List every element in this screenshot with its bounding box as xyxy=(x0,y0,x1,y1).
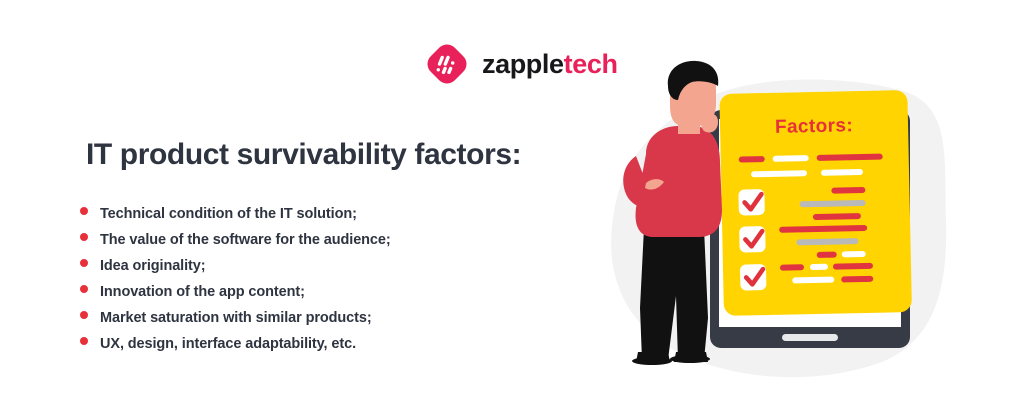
brand-logo[interactable]: zappletech xyxy=(425,40,618,88)
list-item: Market saturation with similar products; xyxy=(80,310,391,332)
list-item-label: The value of the software for the audien… xyxy=(100,232,391,248)
bullet-dot-icon xyxy=(80,233,88,241)
zappletech-diamond-percent-icon xyxy=(425,42,469,86)
list-item-label: Idea originality; xyxy=(100,258,205,274)
bullet-dot-icon xyxy=(80,311,88,319)
tablet-home-bar xyxy=(782,334,838,341)
thinking-man-with-tablet-checklist-illustration: Factors: xyxy=(600,60,1024,416)
bullet-dot-icon xyxy=(80,285,88,293)
checklist-sheet: Factors: xyxy=(719,90,912,316)
page-title: IT product survivability factors: xyxy=(86,138,521,172)
list-item-label: UX, design, interface adaptability, etc. xyxy=(100,336,356,352)
bullet-dot-icon xyxy=(80,337,88,345)
list-item-label: Technical condition of the IT solution; xyxy=(100,206,357,222)
list-item: The value of the software for the audien… xyxy=(80,232,391,254)
list-item-label: Innovation of the app content; xyxy=(100,284,305,300)
list-item: UX, design, interface adaptability, etc. xyxy=(80,336,391,358)
factors-list: Technical condition of the IT solution; … xyxy=(80,206,391,362)
poster-canvas: zappletech IT product survivability fact… xyxy=(0,0,1024,416)
list-item: Idea originality; xyxy=(80,258,391,280)
list-item: Technical condition of the IT solution; xyxy=(80,206,391,228)
brand-word-dark: zapple xyxy=(482,49,564,79)
sheet-title: Factors: xyxy=(775,115,854,138)
list-item: Innovation of the app content; xyxy=(80,284,391,306)
brand-wordmark: zappletech xyxy=(482,51,618,78)
bullet-dot-icon xyxy=(80,207,88,215)
list-item-label: Market saturation with similar products; xyxy=(100,310,372,326)
bullet-dot-icon xyxy=(80,259,88,267)
